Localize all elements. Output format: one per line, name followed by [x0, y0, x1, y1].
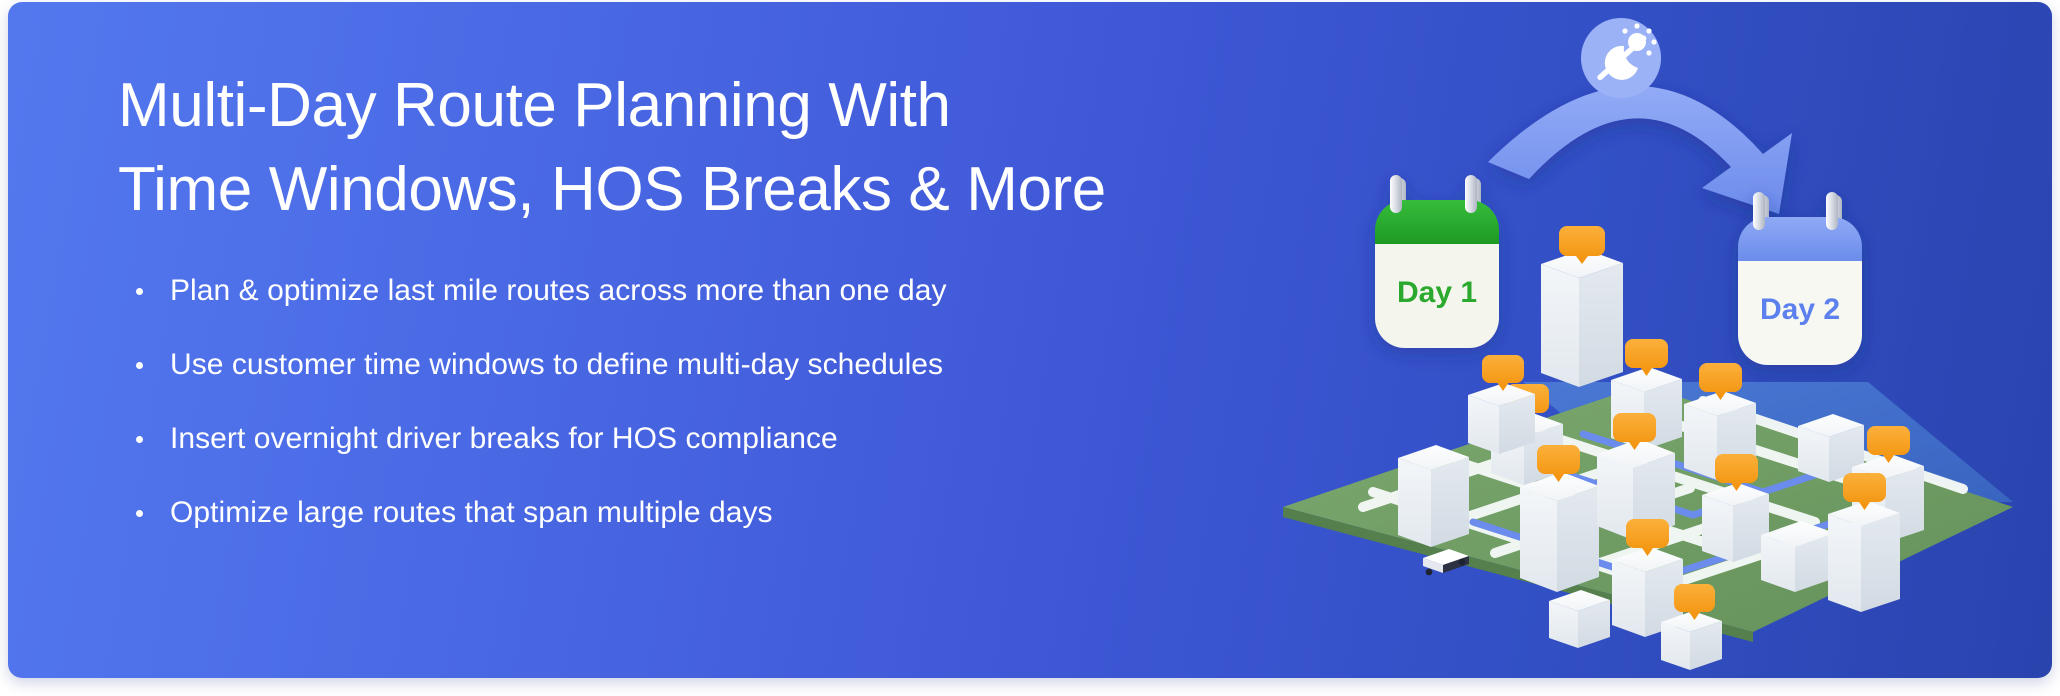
building: [1541, 226, 1623, 387]
promo-banner: Multi-Day Route Planning With Time Windo…: [8, 2, 2052, 678]
list-item: Plan & optimize last mile routes across …: [118, 274, 1198, 308]
calendar-day-1-label: Day 1: [1397, 276, 1477, 309]
map-pin-icon: [1625, 339, 1668, 376]
building: [1398, 445, 1469, 547]
calendar-day-1: Day 1: [1375, 175, 1499, 348]
building: [1468, 355, 1535, 454]
multi-day-route-illustration: Day 1 Day 2: [1223, 2, 2052, 678]
building: [1761, 521, 1835, 592]
list-item-label: Use customer time windows to define mult…: [170, 348, 943, 381]
text-column: Multi-Day Route Planning With Time Windo…: [118, 64, 1198, 530]
list-item: Optimize large routes that span multiple…: [118, 496, 1198, 530]
building: [1549, 590, 1610, 648]
page-title: Multi-Day Route Planning With Time Windo…: [118, 64, 1198, 232]
list-item: Insert overnight driver breaks for HOS c…: [118, 422, 1198, 456]
no-sun-night-icon: [1581, 18, 1661, 98]
bullet-dot-icon: [136, 436, 143, 443]
list-item-label: Plan & optimize last mile routes across …: [170, 274, 947, 307]
overnight-transition-arrow: [1488, 86, 1792, 214]
bullet-dot-icon: [136, 510, 143, 517]
bullet-dot-icon: [136, 362, 143, 369]
list-item: Use customer time windows to define mult…: [118, 348, 1198, 382]
list-item-label: Optimize large routes that span multiple…: [170, 496, 773, 529]
calendar-day-2: Day 2: [1738, 192, 1862, 365]
bullet-dot-icon: [136, 288, 143, 295]
feature-bullet-list: Plan & optimize last mile routes across …: [118, 274, 1198, 530]
list-item-label: Insert overnight driver breaks for HOS c…: [170, 422, 838, 455]
